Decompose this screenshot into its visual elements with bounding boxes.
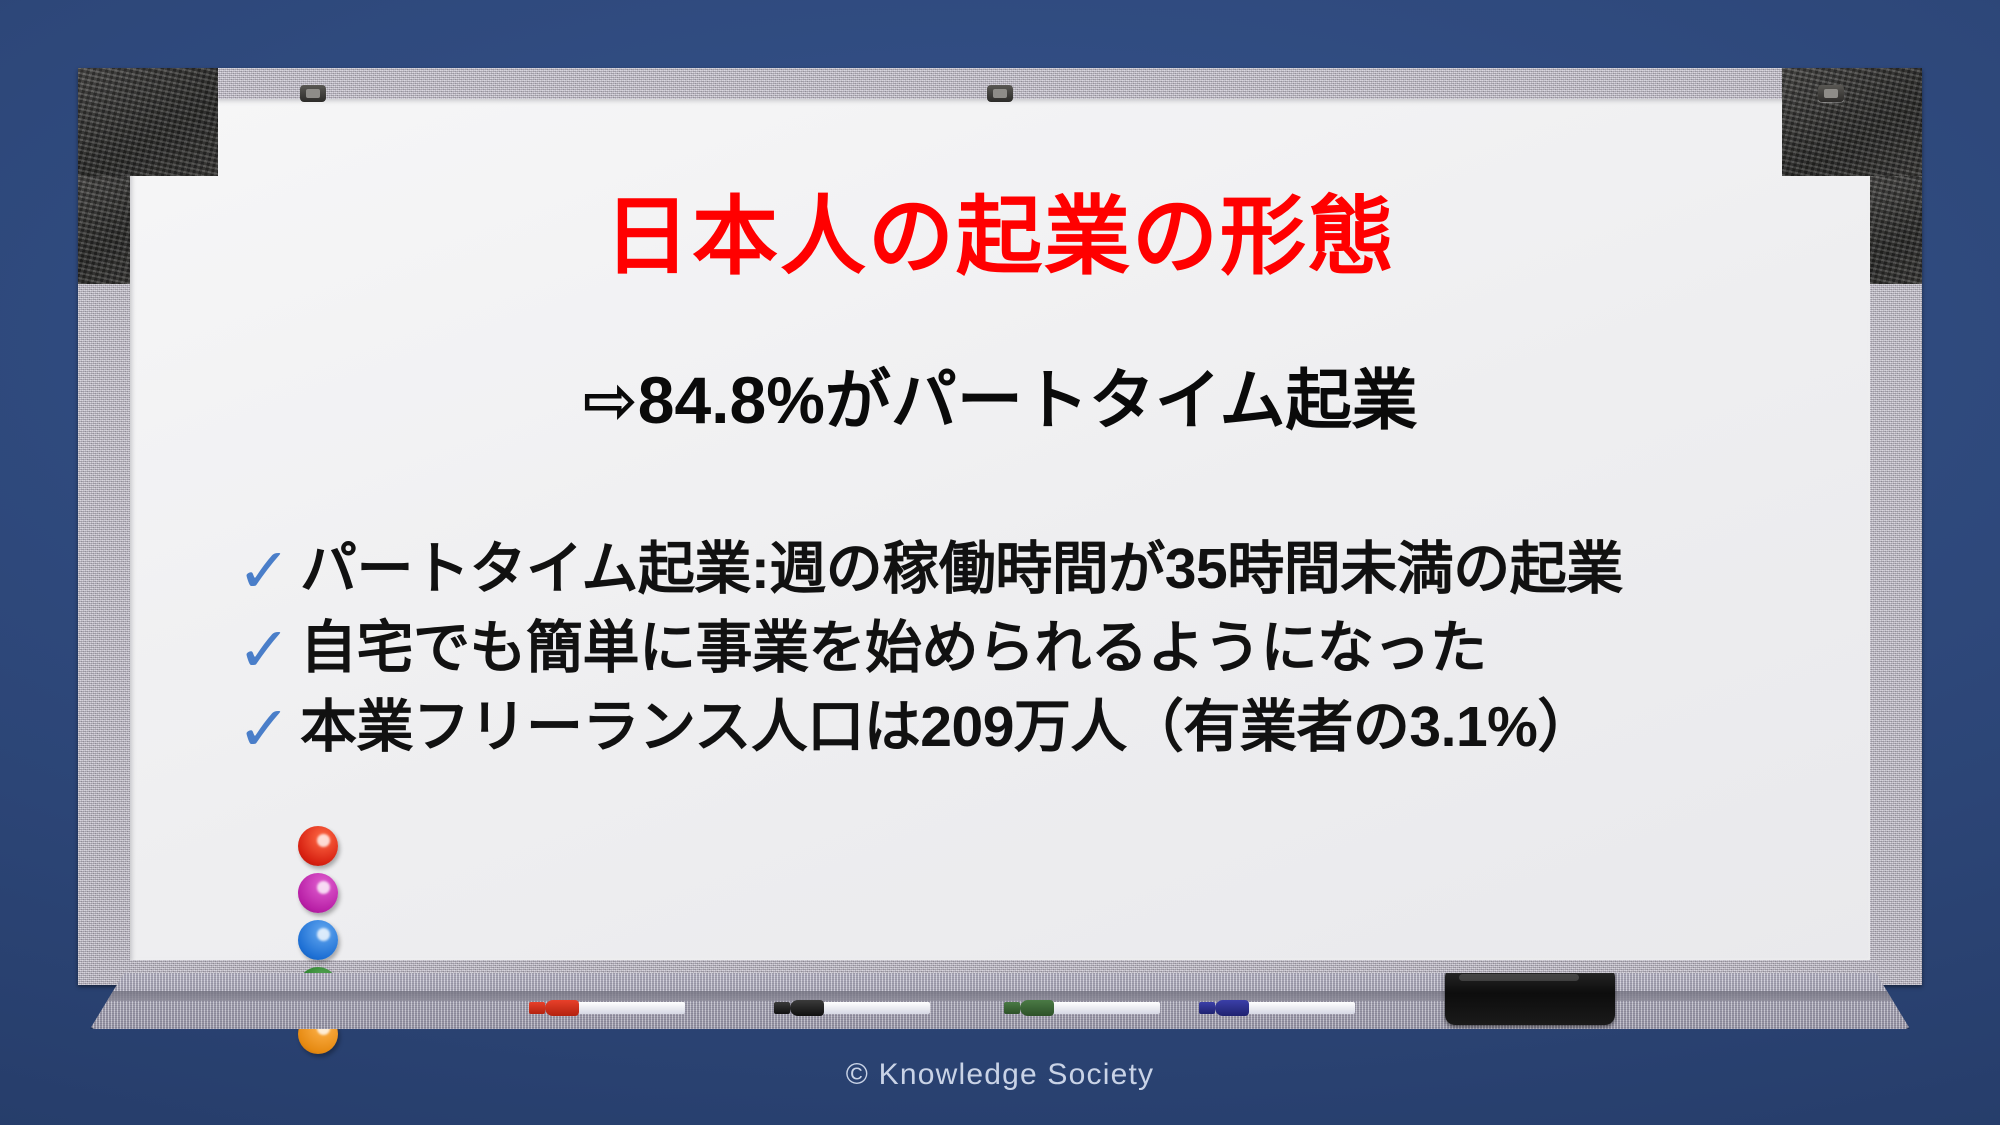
marker-barrel xyxy=(812,1002,930,1014)
slide-canvas: 日本人の起業の形態 ⇨84.8%がパートタイム起業 ✓ パートタイム起業:週の稼… xyxy=(0,0,2000,1125)
list-item-label: パートタイム起業:週の稼働時間が35時間未満の起業 xyxy=(300,538,1623,602)
page-title: 日本人の起業の形態 xyxy=(130,194,1870,280)
magnet-blue-icon xyxy=(298,920,338,960)
whiteboard: 日本人の起業の形態 ⇨84.8%がパートタイム起業 ✓ パートタイム起業:週の稼… xyxy=(78,68,1922,1033)
marker-cap xyxy=(1020,1000,1054,1016)
tray-lip xyxy=(90,991,1910,1001)
marker-cap xyxy=(790,1000,824,1016)
marker-cap xyxy=(545,1000,579,1016)
check-icon: ✓ xyxy=(237,620,292,682)
list-item: ✓ パートタイム起業:週の稼働時間が35時間未満の起業 xyxy=(238,537,1858,602)
marker-band xyxy=(774,1002,790,1014)
marker-barrel xyxy=(1042,1002,1160,1014)
list-item-label: 自宅でも簡単に事業を始められるようになった xyxy=(300,617,1487,681)
marker-band xyxy=(529,1002,545,1014)
bullet-list: ✓ パートタイム起業:週の稼働時間が35時間未満の起業 ✓ 自宅でも簡単に事業を… xyxy=(238,537,1858,773)
eraser-icon xyxy=(1445,967,1615,1025)
subtitle-highlight: ⇨84.8%がパートタイム起業 xyxy=(130,367,1870,433)
list-item: ✓ 自宅でも簡単に事業を始められるようになった xyxy=(238,616,1858,681)
list-item-label: 本業フリーランス人口は209万人（有業者の3.1%） xyxy=(300,696,1594,760)
list-item: ✓ 本業フリーランス人口は209万人（有業者の3.1%） xyxy=(238,695,1858,760)
marker-cap xyxy=(1215,1000,1249,1016)
footer-copyright: © Knowledge Society xyxy=(0,1058,2000,1092)
check-icon: ✓ xyxy=(237,541,292,603)
marker-tray xyxy=(90,973,1910,1029)
board-content: 日本人の起業の形態 ⇨84.8%がパートタイム起業 ✓ パートタイム起業:週の稼… xyxy=(130,99,1870,960)
marker-band xyxy=(1004,1002,1020,1014)
magnet-red-icon xyxy=(298,826,338,866)
check-icon: ✓ xyxy=(237,699,292,761)
magnet-purple-icon xyxy=(298,873,338,913)
marker-barrel xyxy=(567,1002,685,1014)
marker-barrel xyxy=(1237,1002,1355,1014)
marker-band xyxy=(1199,1002,1215,1014)
